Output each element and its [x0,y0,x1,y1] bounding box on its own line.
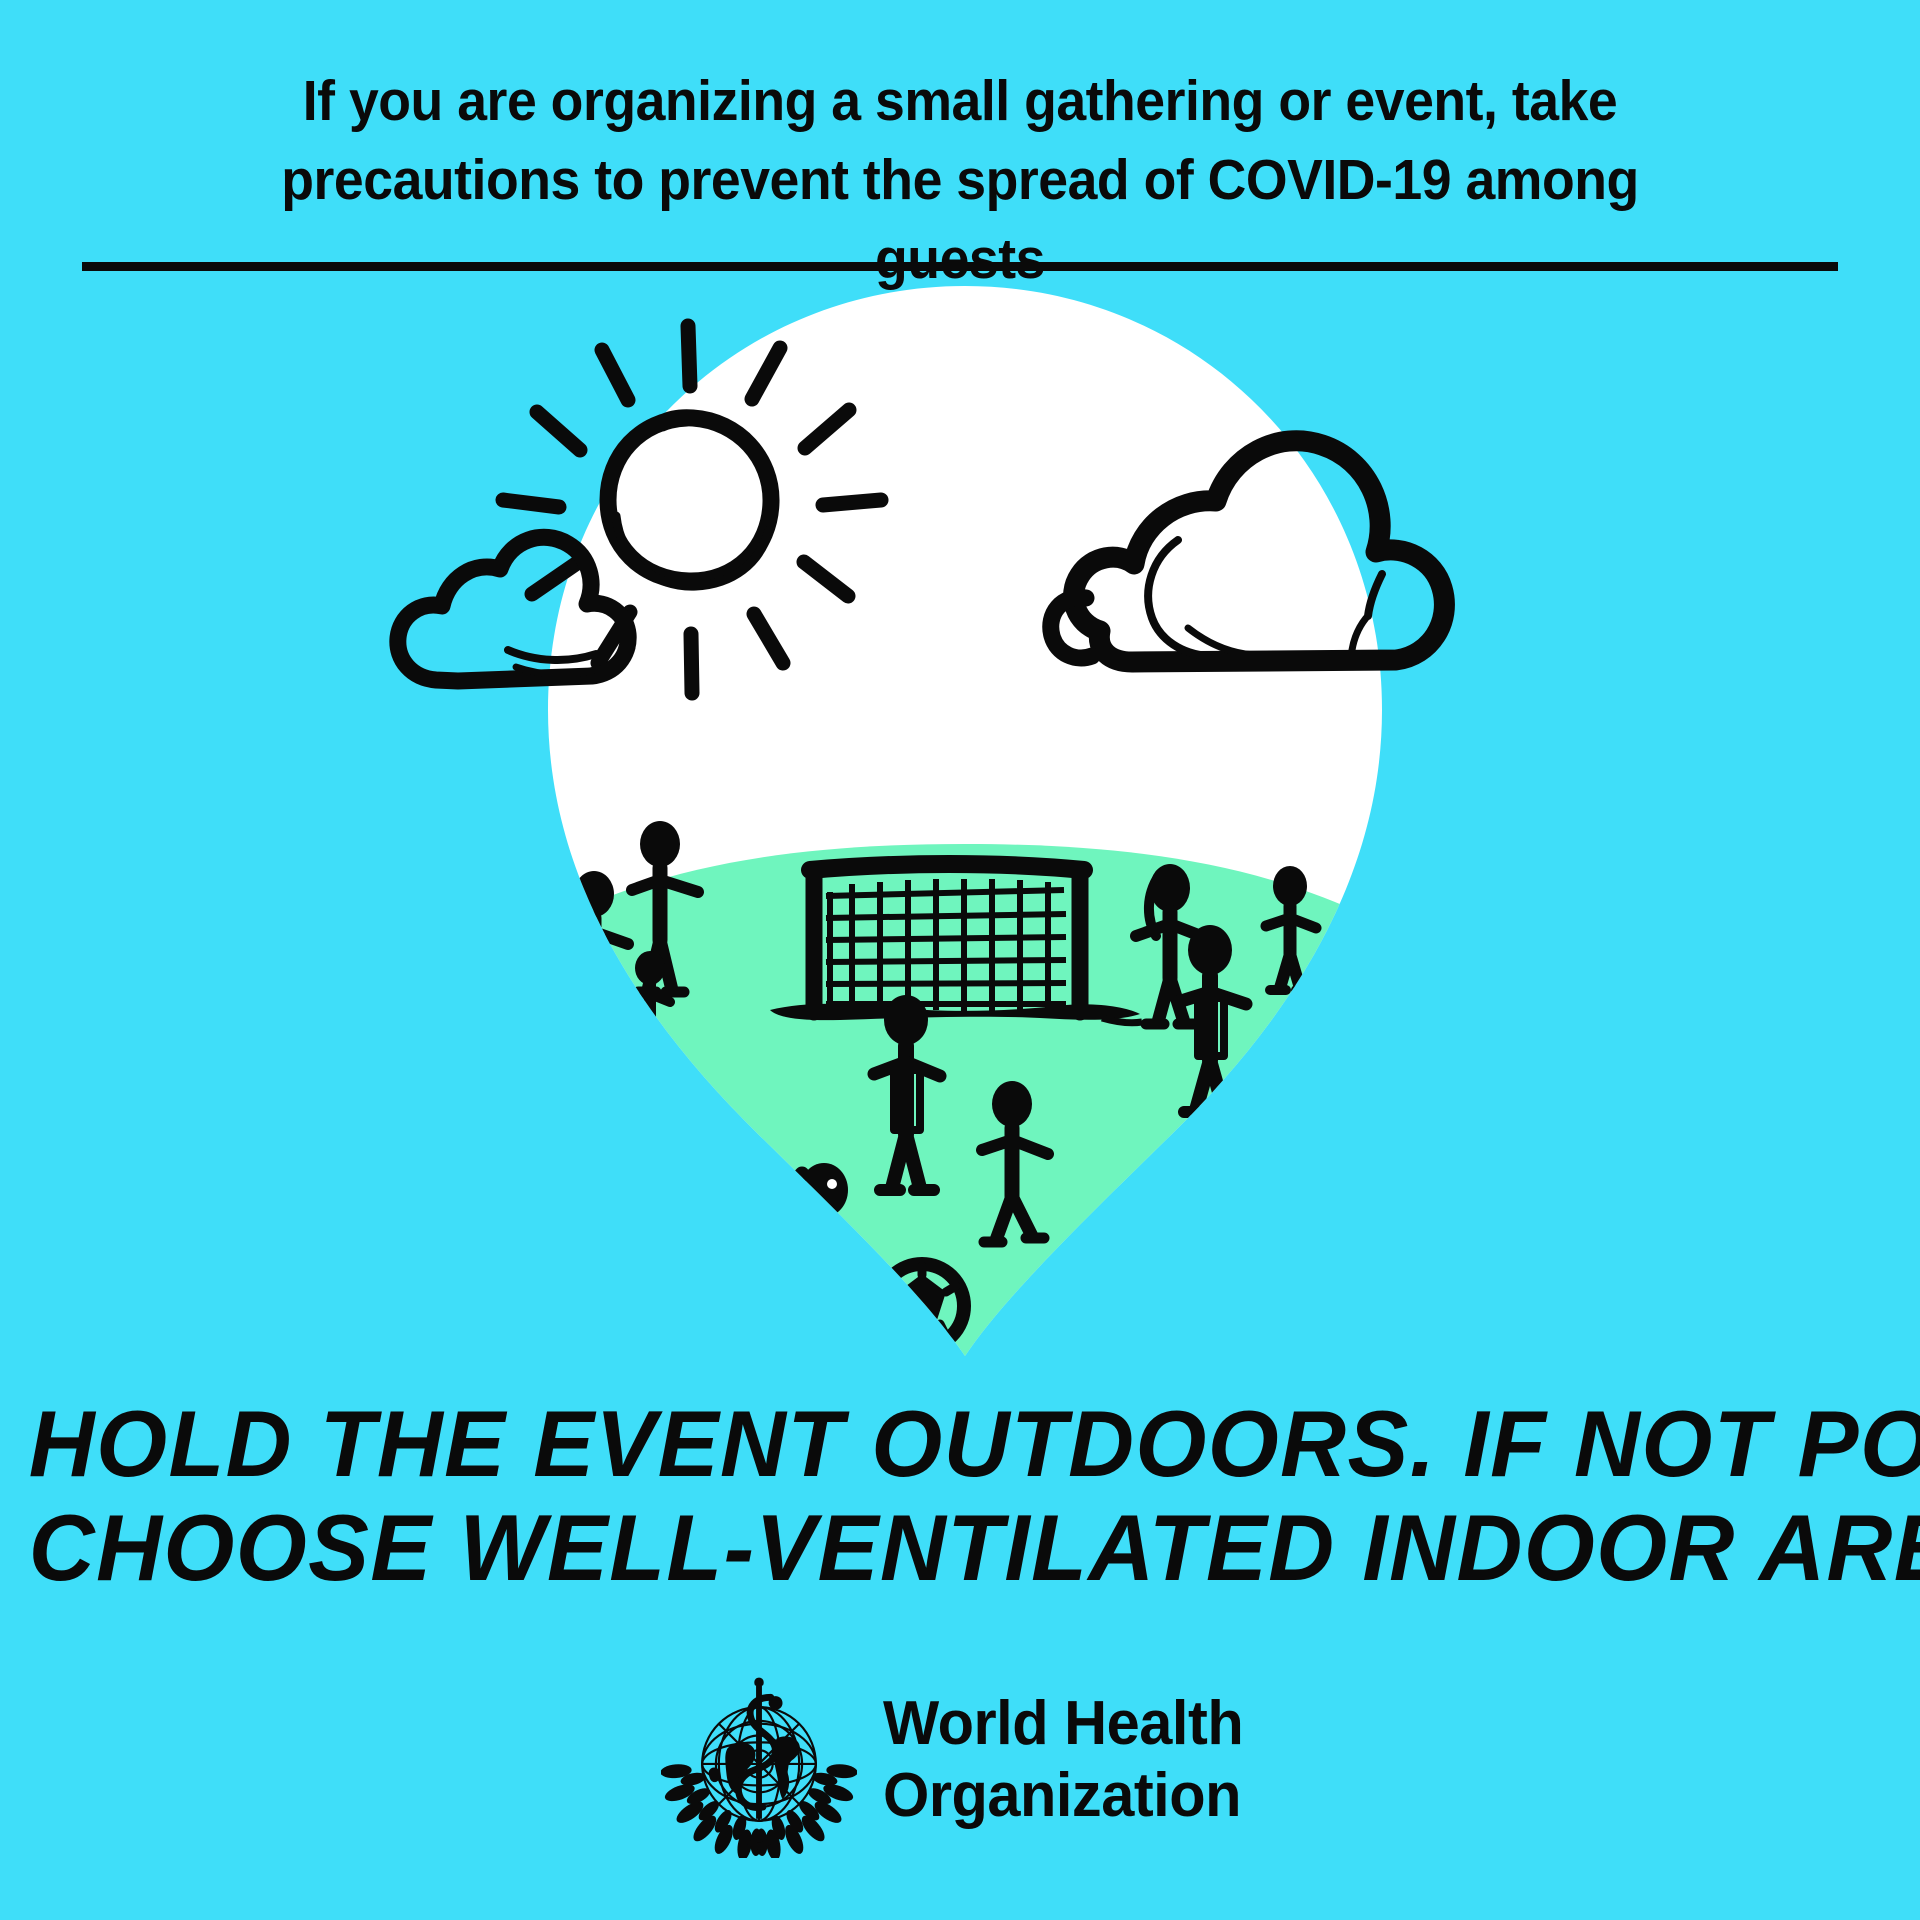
slogan-line-2: CHOOSE WELL-VENTILATED INDOOR AREAS. [29,1496,1891,1600]
slogan: HOLD THE EVENT OUTDOORS. IF NOT POSSIBLE… [0,1392,1920,1600]
who-wordmark-line-1: World Health [883,1688,1243,1760]
illustration-map-pin-outdoor-scene [340,278,1590,1378]
who-wordmark: World Health Organization [883,1688,1243,1832]
who-logo: World Health Organization [0,1662,1920,1858]
slogan-line-1: HOLD THE EVENT OUTDOORS. IF NOT POSSIBLE… [29,1392,1891,1496]
who-wordmark-line-2: Organization [883,1760,1243,1832]
who-emblem-icon [661,1662,857,1858]
header-divider [82,262,1838,271]
